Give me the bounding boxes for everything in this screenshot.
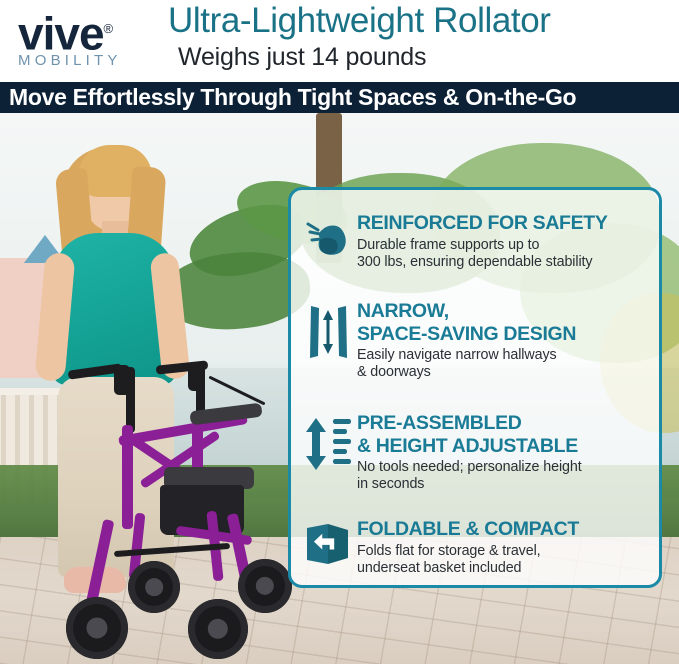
rollator-product (60, 363, 300, 663)
feature-body: Durable frame supports up to 300 lbs, en… (357, 237, 651, 271)
feature-item-height: PRE-ASSEMBLED & HEIGHT ADJUSTABLE No too… (299, 412, 651, 493)
page-title: Ultra-Lightweight Rollator (168, 1, 551, 41)
header: vive® MOBILITY Ultra-Lightweight Rollato… (0, 0, 679, 82)
height-adjust-arrow-icon (299, 412, 357, 493)
feature-text: NARROW, SPACE-SAVING DESIGN Easily navig… (357, 300, 651, 381)
wheel-rear-right (238, 559, 292, 613)
folding-panel-arrow-icon (299, 518, 357, 577)
feature-panel: REINFORCED FOR SAFETY Durable frame supp… (288, 187, 662, 588)
registered-trademark-icon: ® (104, 21, 113, 36)
feature-heading: PRE-ASSEMBLED & HEIGHT ADJUSTABLE (357, 412, 651, 457)
logo-wordmark: vive® (18, 6, 168, 56)
feature-item-narrow: NARROW, SPACE-SAVING DESIGN Easily navig… (299, 300, 651, 381)
wheel-front-right (188, 599, 248, 659)
feature-heading: NARROW, SPACE-SAVING DESIGN (357, 300, 651, 345)
feature-body: Folds flat for storage & travel, underse… (357, 543, 651, 577)
upper-frame-bar (126, 367, 135, 433)
narrow-width-arrows-icon (299, 300, 357, 381)
logo-subtitle: MOBILITY (18, 52, 168, 69)
feature-text: PRE-ASSEMBLED & HEIGHT ADJUSTABLE No too… (357, 412, 651, 493)
tagline-text: Move Effortlessly Through Tight Spaces &… (0, 84, 576, 111)
feature-text: FOLDABLE & COMPACT Folds flat for storag… (357, 518, 651, 577)
feature-item-foldable: FOLDABLE & COMPACT Folds flat for storag… (299, 518, 651, 577)
brake-cable (208, 376, 265, 406)
feature-heading: FOLDABLE & COMPACT (357, 518, 651, 541)
feature-heading: REINFORCED FOR SAFETY (357, 212, 651, 235)
feature-text: REINFORCED FOR SAFETY Durable frame supp… (357, 212, 651, 271)
page-subtitle: Weighs just 14 pounds (178, 42, 426, 72)
tagline-banner: Move Effortlessly Through Tight Spaces &… (0, 82, 679, 113)
flexed-bicep-icon (299, 212, 357, 271)
lifestyle-photo: REINFORCED FOR SAFETY Durable frame supp… (0, 113, 679, 664)
vive-mobility-logo: vive® MOBILITY (18, 6, 168, 74)
feature-body: No tools needed; personalize height in s… (357, 459, 651, 493)
feature-body: Easily navigate narrow hallways & doorwa… (357, 347, 651, 381)
wheel-rear-left (128, 561, 180, 613)
product-infographic: vive® MOBILITY Ultra-Lightweight Rollato… (0, 0, 679, 664)
feature-item-reinforced: REINFORCED FOR SAFETY Durable frame supp… (299, 212, 651, 271)
wheel-front-left (66, 597, 128, 659)
